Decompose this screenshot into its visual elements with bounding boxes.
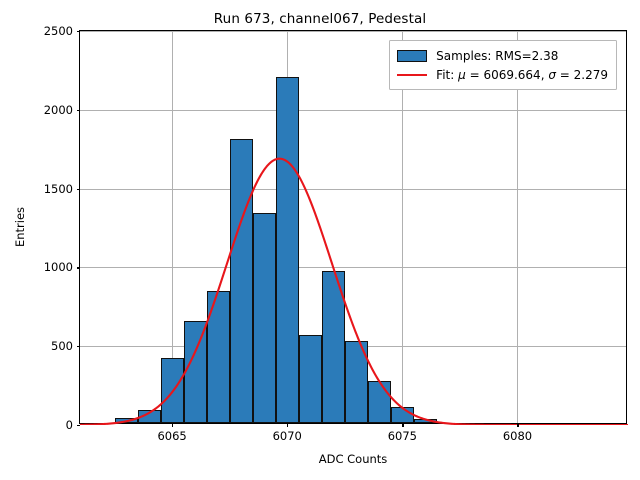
y-tick-label: 1000 <box>44 260 73 274</box>
legend-line-icon <box>397 74 427 76</box>
y-tick-mark <box>77 31 81 32</box>
y-tick-mark <box>77 267 81 268</box>
y-tick-mark <box>77 425 81 426</box>
gaussian-fit-path <box>80 159 628 425</box>
x-tick-label: 6075 <box>388 429 417 443</box>
x-tick-label: 6080 <box>503 429 532 443</box>
legend-fit-prefix: Fit: <box>436 68 458 82</box>
legend-label-samples: Samples: RMS=2.38 <box>436 49 558 63</box>
x-tick-mark <box>287 423 288 427</box>
fit-curve-svg <box>80 31 628 425</box>
x-tick-mark <box>517 423 518 427</box>
y-tick-label: 1500 <box>44 182 73 196</box>
y-axis-label: Entries <box>13 207 27 247</box>
x-axis-label: ADC Counts <box>79 452 627 466</box>
y-tick-label: 0 <box>66 418 73 432</box>
x-tick-mark <box>172 423 173 427</box>
y-tick-mark <box>77 346 81 347</box>
histogram-figure: Run 673, channel067, Pedestal 0500100015… <box>0 0 640 480</box>
legend-item-samples: Samples: RMS=2.38 <box>397 46 608 65</box>
y-tick-mark <box>77 110 81 111</box>
y-tick-label: 500 <box>51 339 73 353</box>
plot-area: 050010001500200025006065607060756080 Sam… <box>79 30 627 424</box>
y-tick-label: 2500 <box>44 24 73 38</box>
legend-fit-mu-value: 6069.664 <box>483 68 540 82</box>
chart-title: Run 673, channel067, Pedestal <box>0 11 640 27</box>
legend-label-fit: Fit: μ = 6069.664, σ = 2.279 <box>436 68 608 82</box>
y-tick-label: 2000 <box>44 103 73 117</box>
legend-fit-sigma-value: 2.279 <box>574 68 608 82</box>
legend-fit-mu: = <box>466 68 484 82</box>
sigma-symbol: σ <box>548 68 556 82</box>
legend-fit-sigma-eq: = <box>556 68 574 82</box>
legend-patch-icon <box>397 50 427 62</box>
y-tick-mark <box>77 189 81 190</box>
x-tick-mark <box>402 423 403 427</box>
mu-symbol: μ <box>458 68 466 82</box>
x-tick-label: 6070 <box>273 429 302 443</box>
legend: Samples: RMS=2.38 Fit: μ = 6069.664, σ =… <box>389 40 617 90</box>
legend-item-fit: Fit: μ = 6069.664, σ = 2.279 <box>397 65 608 84</box>
x-tick-label: 6065 <box>157 429 186 443</box>
